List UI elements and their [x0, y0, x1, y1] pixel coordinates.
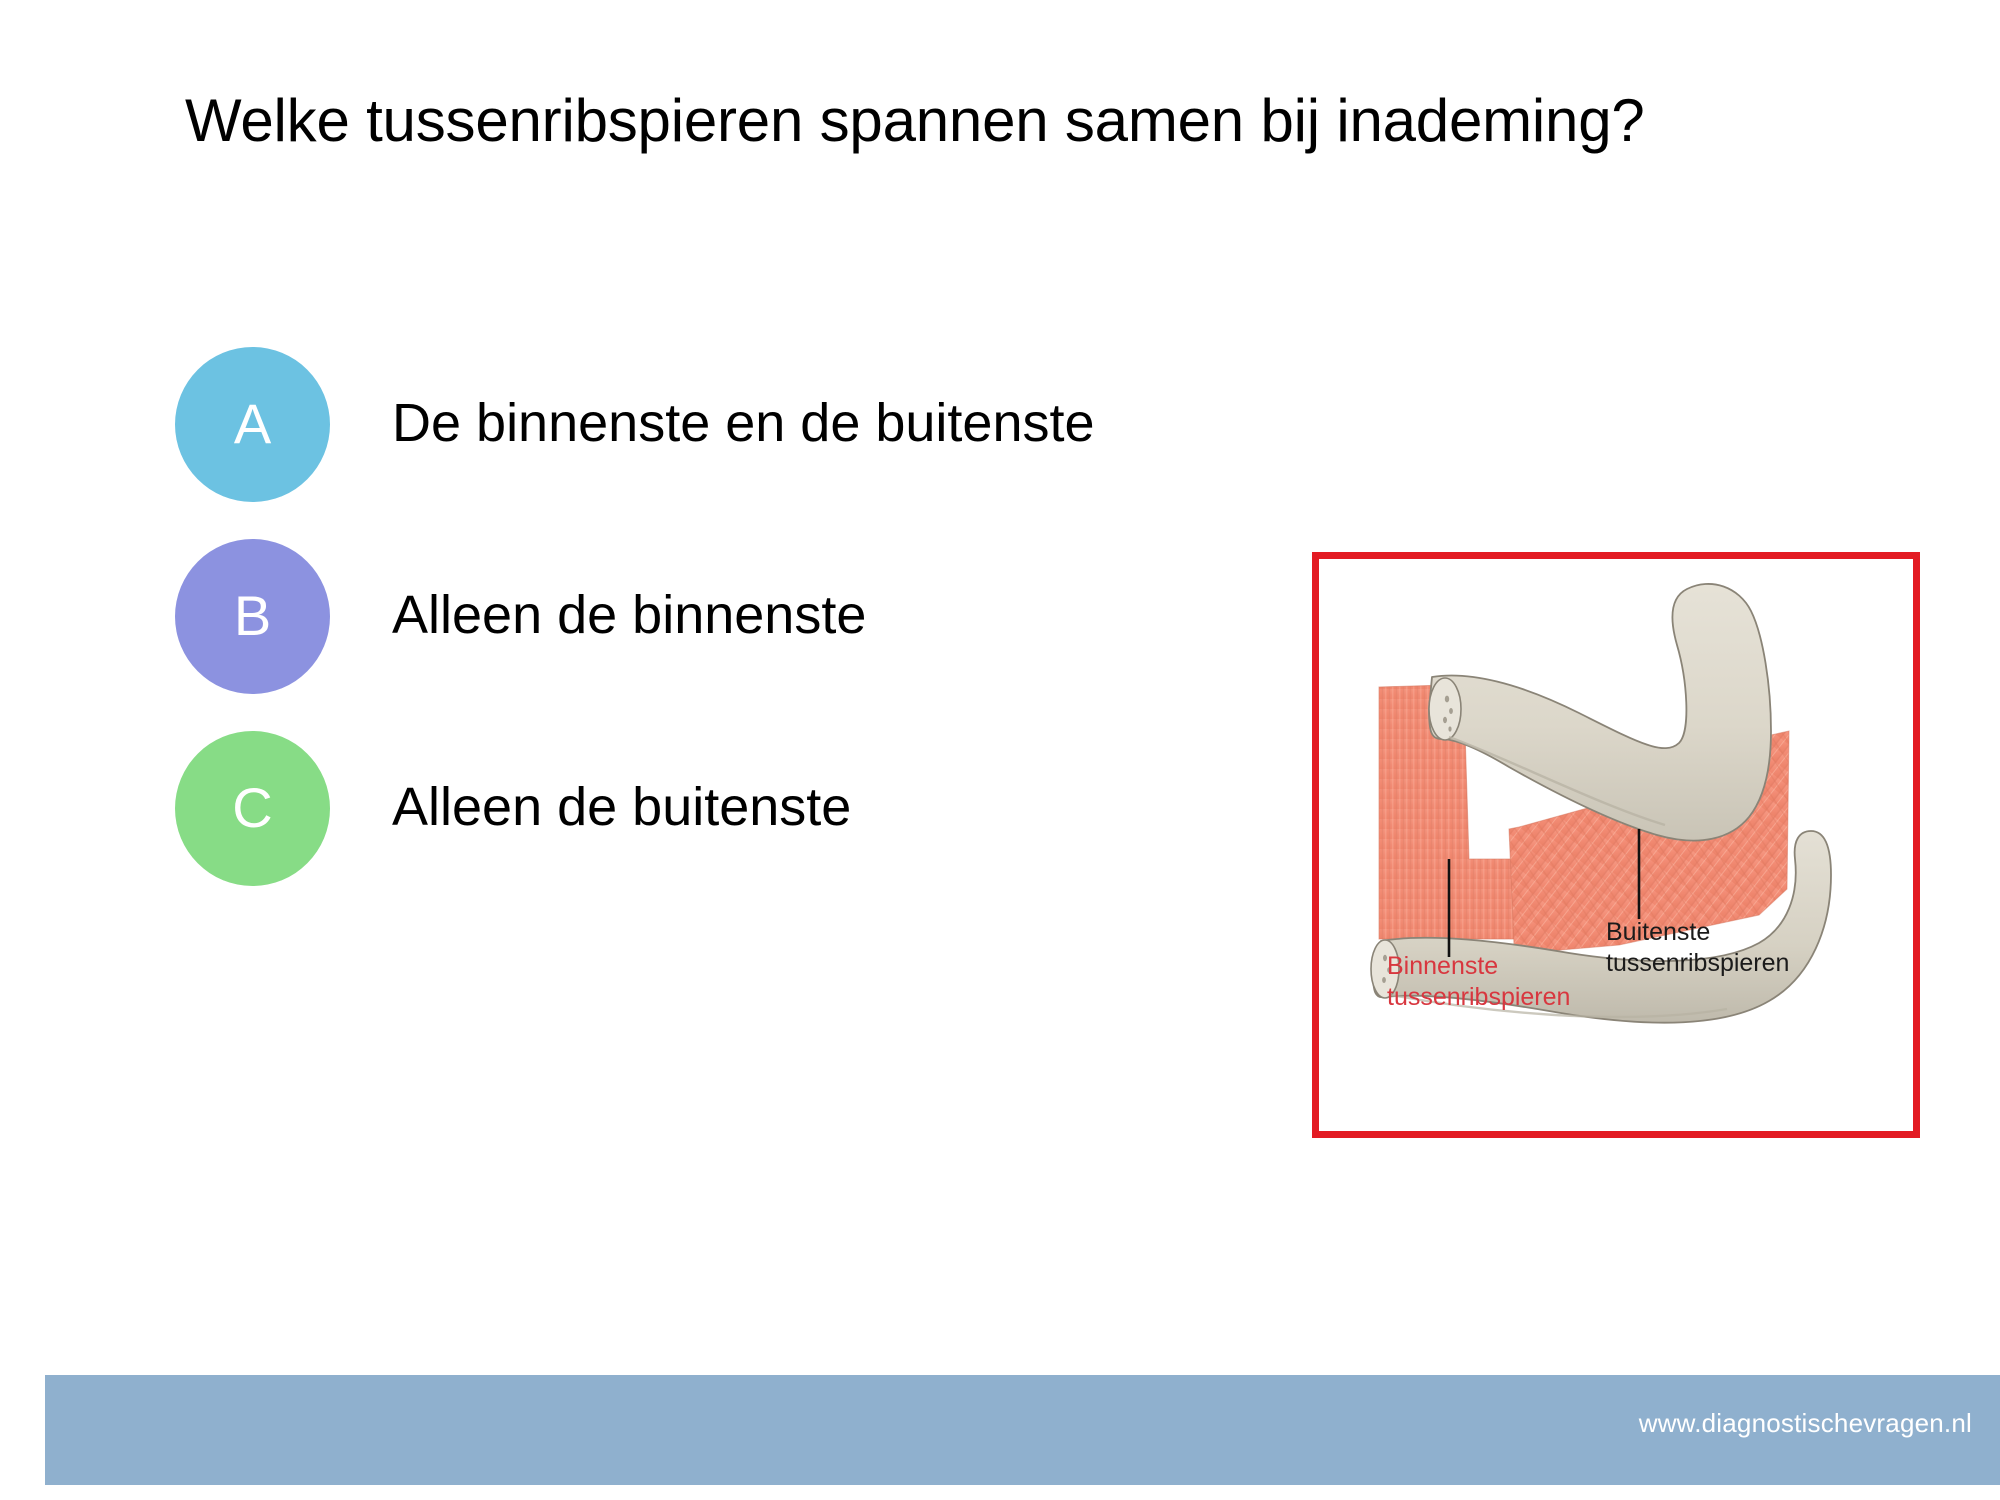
answer-bullet-a[interactable]: A — [175, 347, 330, 502]
figure-label-inner-line2: tussenribspieren — [1387, 982, 1570, 1013]
page-title: Welke tussenribspieren spannen samen bij… — [185, 86, 1805, 155]
figure-label-outer: Buitenste tussenribspieren — [1606, 917, 1789, 978]
answer-option-c[interactable]: C Alleen de buitenste — [175, 712, 1275, 904]
slide-canvas: Welke tussenribspieren spannen samen bij… — [0, 0, 2000, 1500]
rib-intercostal-muscle-diagram — [1319, 559, 1913, 1131]
answer-label-a: De binnenste en de buitenste — [392, 394, 1095, 453]
answer-options-list: A De binnenste en de buitenste B Alleen … — [175, 328, 1275, 904]
figure-label-inner-line1: Binnenste — [1387, 951, 1570, 982]
figure-label-inner: Binnenste tussenribspieren — [1387, 951, 1570, 1012]
figure-label-outer-line2: tussenribspieren — [1606, 948, 1789, 979]
footer-bar: www.diagnostischevragen.nl — [45, 1375, 2000, 1485]
answer-option-b[interactable]: B Alleen de binnenste — [175, 520, 1275, 712]
answer-bullet-c[interactable]: C — [175, 731, 330, 886]
answer-label-b: Alleen de binnenste — [392, 586, 866, 645]
figure-label-outer-line1: Buitenste — [1606, 917, 1789, 948]
answer-option-a[interactable]: A De binnenste en de buitenste — [175, 328, 1275, 520]
anatomy-figure-frame: Binnenste tussenribspieren Buitenste tus… — [1312, 552, 1920, 1138]
answer-label-c: Alleen de buitenste — [392, 778, 851, 837]
footer-website-url: www.diagnostischevragen.nl — [1639, 1408, 1972, 1439]
anatomy-illustration: Binnenste tussenribspieren Buitenste tus… — [1319, 559, 1913, 1131]
answer-bullet-b[interactable]: B — [175, 539, 330, 694]
